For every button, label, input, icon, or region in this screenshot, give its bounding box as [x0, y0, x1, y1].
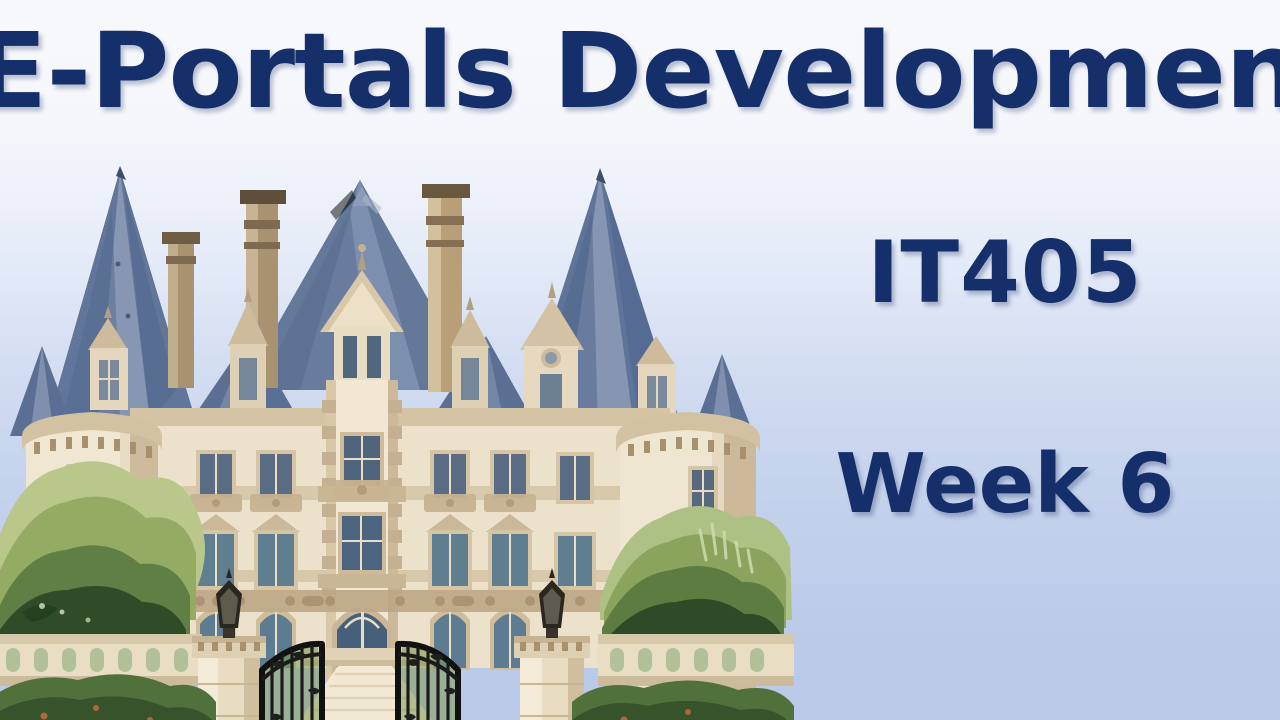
foliage-left: [0, 461, 205, 650]
slide-canvas: E-Portals Development IT405 Week 6: [0, 0, 1280, 720]
chateau-illustration: [0, 150, 800, 720]
page-title: E-Portals Development: [0, 16, 1280, 126]
right-text-column: IT405 Week 6: [790, 230, 1220, 526]
chateau-svg: [0, 150, 800, 720]
title-container: E-Portals Development: [0, 16, 1280, 126]
week-number-label: Week 6: [790, 444, 1220, 526]
course-code-label: IT405: [790, 230, 1220, 316]
hedge-row-right: [572, 680, 794, 720]
balustrade-wall-right: [598, 634, 794, 686]
